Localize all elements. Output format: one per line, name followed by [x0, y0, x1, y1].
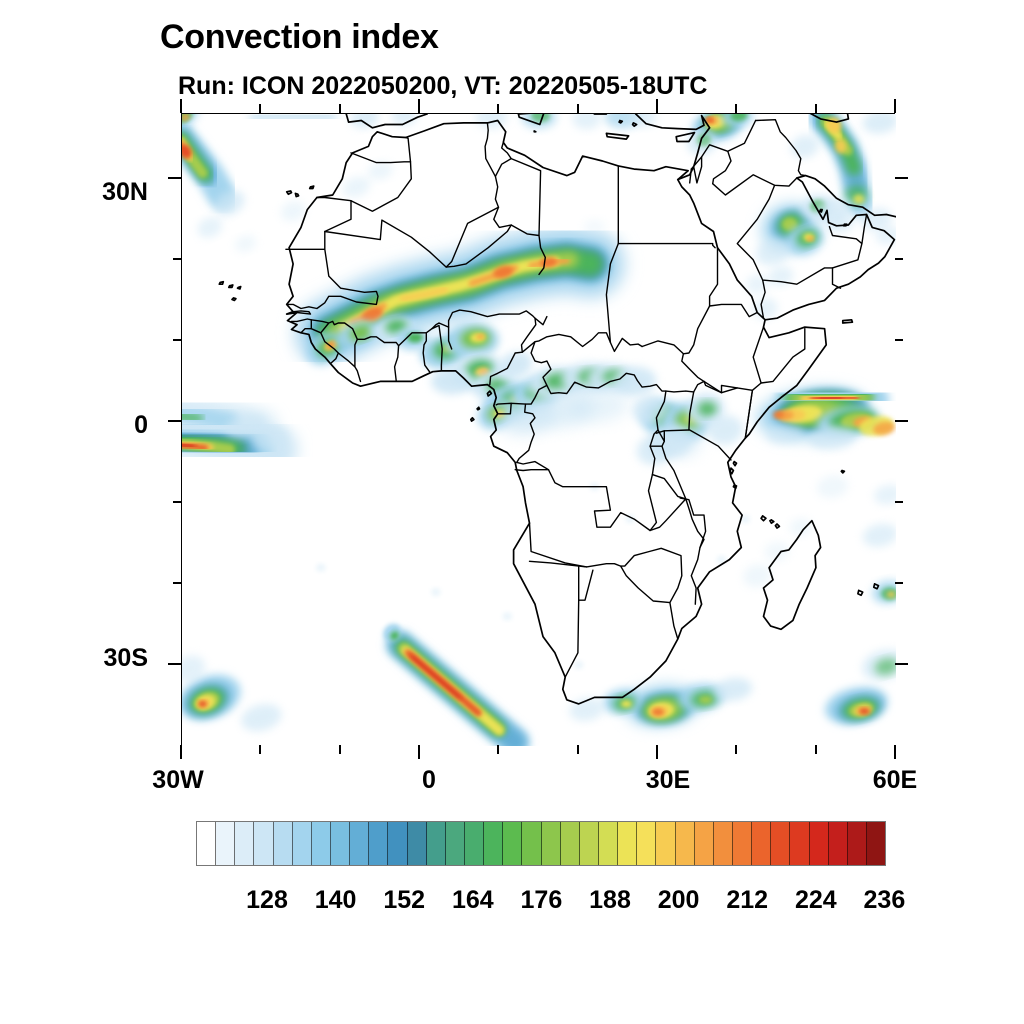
- map-plot-area[interactable]: [181, 113, 895, 745]
- y-tick-label-30s: 30S: [60, 644, 148, 673]
- colorbar-tick-label: 188: [576, 886, 644, 915]
- x-major-tick: [180, 745, 182, 759]
- colorbar-cell: [656, 822, 675, 865]
- colorbar-cell: [599, 822, 618, 865]
- geo-path: [619, 121, 622, 123]
- colorbar-tick-label: 212: [713, 886, 781, 915]
- colorbar-cell: [331, 822, 350, 865]
- colorbar-cell: [580, 822, 599, 865]
- colorbar-cell: [254, 822, 273, 865]
- convection-band: [182, 445, 194, 447]
- colorbar-cell: [350, 822, 369, 865]
- colorbar-cell: [561, 822, 580, 865]
- colorbar-tick-label: 176: [507, 886, 575, 915]
- y-minor-tick: [173, 339, 181, 341]
- colorbar-tick-label: 140: [302, 886, 370, 915]
- x-minor-tick: [735, 745, 737, 754]
- y-major-tick: [168, 177, 181, 179]
- x-major-tick: [418, 99, 420, 113]
- convection-blob: [574, 661, 584, 669]
- figure-subtitle: Run: ICON 2022050200, VT: 20220505-18UTC: [178, 72, 707, 101]
- colorbar-cell: [618, 822, 637, 865]
- y-minor-tick: [895, 339, 903, 341]
- x-major-tick: [180, 99, 182, 113]
- geo-path: [229, 285, 233, 287]
- colorbar[interactable]: [196, 821, 886, 866]
- colorbar-tick-label: 152: [370, 886, 438, 915]
- colorbar-cell: [752, 822, 771, 865]
- colorbar-cell: [676, 822, 695, 865]
- x-minor-tick: [339, 745, 341, 754]
- x-major-tick: [656, 99, 658, 113]
- x-minor-tick: [259, 745, 261, 754]
- x-minor-tick: [259, 104, 261, 113]
- y-major-tick: [168, 663, 181, 665]
- colorbar-cell: [465, 822, 484, 865]
- geo-path: [515, 470, 548, 471]
- convection-blob: [853, 194, 864, 204]
- colorbar-cell: [312, 822, 331, 865]
- x-minor-tick: [497, 104, 499, 113]
- y-minor-tick: [173, 501, 181, 503]
- colorbar-cell: [274, 822, 293, 865]
- convection-blob: [859, 708, 870, 714]
- colorbar-tick-label: 164: [439, 886, 507, 915]
- colorbar-cell: [235, 822, 254, 865]
- colorbar-cell: [503, 822, 522, 865]
- geo-path: [219, 282, 223, 285]
- colorbar-tick-label: 128: [233, 886, 301, 915]
- figure-root: Convection index Run: ICON 2022050200, V…: [0, 0, 1024, 1024]
- y-minor-tick: [173, 582, 181, 584]
- y-major-tick: [168, 420, 181, 422]
- colorbar-cell: [848, 822, 867, 865]
- colorbar-cell: [408, 822, 427, 865]
- y-minor-tick: [895, 501, 903, 503]
- geo-path: [534, 131, 536, 132]
- page-title: Convection index: [160, 18, 439, 57]
- convection-band: [182, 415, 198, 418]
- x-major-tick: [894, 745, 896, 759]
- colorbar-tick-label: 224: [782, 886, 850, 915]
- y-minor-tick: [895, 258, 903, 260]
- colorbar-cell: [771, 822, 790, 865]
- colorbar-cell: [637, 822, 656, 865]
- colorbar-cell: [733, 822, 752, 865]
- colorbar-cell: [484, 822, 503, 865]
- convection-blob: [503, 612, 513, 620]
- convection-blob: [621, 700, 632, 707]
- geo-path: [666, 391, 694, 392]
- colorbar-cell: [293, 822, 312, 865]
- x-minor-tick: [577, 104, 579, 113]
- colorbar-cell: [427, 822, 446, 865]
- colorbar-cell: [446, 822, 465, 865]
- x-major-tick: [656, 745, 658, 759]
- x-tick-label-60e: 60E: [853, 766, 937, 795]
- convection-band: [821, 398, 841, 399]
- colorbar-cell: [695, 822, 714, 865]
- map-canvas: [182, 114, 896, 746]
- y-major-tick: [895, 663, 908, 665]
- geo-path: [841, 471, 844, 473]
- colorbar-cell: [216, 822, 235, 865]
- x-major-tick: [418, 745, 420, 759]
- convection-blob: [652, 708, 665, 716]
- convection-blob: [198, 701, 207, 707]
- x-minor-tick: [577, 745, 579, 754]
- x-major-tick: [894, 99, 896, 113]
- x-minor-tick: [815, 745, 817, 754]
- x-minor-tick: [339, 104, 341, 113]
- colorbar-cell: [867, 822, 885, 865]
- x-tick-label-30e: 30E: [626, 766, 710, 795]
- convection-blob: [698, 402, 717, 417]
- geo-path: [477, 407, 479, 409]
- colorbar-cell: [790, 822, 809, 865]
- convection-band: [261, 116, 325, 119]
- convection-blob: [431, 588, 441, 596]
- colorbar-cell: [369, 822, 388, 865]
- colorbar-cell: [542, 822, 561, 865]
- x-minor-tick: [735, 104, 737, 113]
- x-tick-label-30w: 30W: [136, 766, 220, 795]
- colorbar-cell: [810, 822, 829, 865]
- x-minor-tick: [497, 745, 499, 754]
- convection-blob: [316, 564, 326, 572]
- convection-blob: [887, 591, 896, 597]
- geo-path: [310, 186, 314, 188]
- convection-blob: [583, 219, 605, 235]
- geo-path: [238, 287, 241, 289]
- geo-path: [844, 224, 847, 226]
- convection-blob: [807, 237, 813, 242]
- y-tick-label-30n: 30N: [60, 178, 148, 207]
- y-minor-tick: [173, 258, 181, 260]
- colorbar-tick-label: 200: [645, 886, 713, 915]
- colorbar-cell: [197, 822, 216, 865]
- x-tick-label-0: 0: [410, 766, 448, 795]
- colorbar-cell: [829, 822, 848, 865]
- convection-blob: [706, 118, 712, 122]
- colorbar-cell: [522, 822, 541, 865]
- x-minor-tick: [815, 104, 817, 113]
- y-tick-label-0: 0: [60, 411, 148, 440]
- y-major-tick: [895, 420, 908, 422]
- colorbar-cell: [714, 822, 733, 865]
- convection-blob: [699, 696, 712, 704]
- colorbar-tick-label: 236: [850, 886, 918, 915]
- colorbar-cell: [388, 822, 407, 865]
- geo-path: [820, 210, 822, 212]
- y-minor-tick: [895, 582, 903, 584]
- y-major-tick: [895, 177, 908, 179]
